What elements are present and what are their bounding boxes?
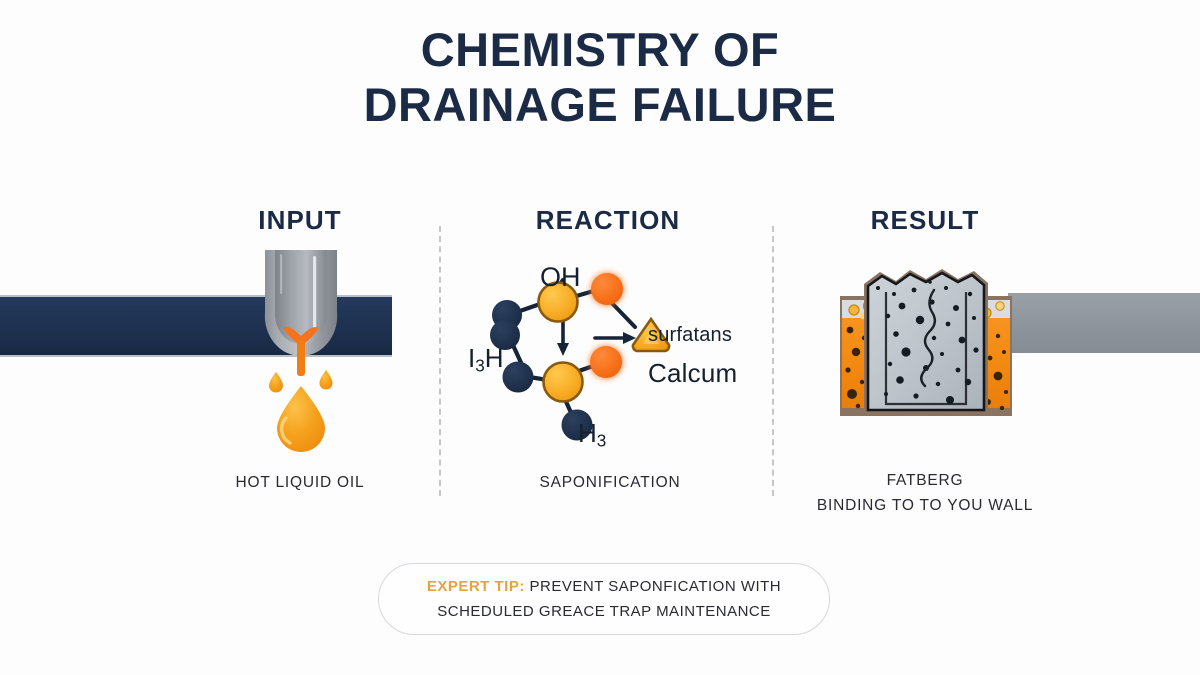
pipe-highlight	[313, 256, 316, 328]
molecule-label-hydroxyl: OH	[540, 262, 581, 293]
reaction-arrow-down	[557, 317, 569, 356]
page-title-line-2: DRAINAGE FAILURE	[0, 77, 1200, 132]
page-title-line-1: CHEMISTRY OF	[0, 22, 1200, 77]
molecule-label-surfactants: surfatans	[648, 324, 732, 347]
reaction-arrow-right	[595, 332, 636, 344]
fatberg-cross-section-icon	[830, 258, 1022, 448]
column-header-reaction: REACTION	[488, 205, 728, 236]
molecule-label-left-chain: I3H	[468, 343, 504, 376]
molecule-label-calcium: Calcum	[648, 358, 737, 389]
oil-droplet-small-right	[320, 370, 333, 390]
expert-tip-label: EXPERT TIP:	[427, 578, 525, 595]
expert-tip-text: EXPERT TIP: PREVENT SAPONFICATION WITH S…	[401, 574, 807, 624]
drain-pipe-bar-right	[1008, 293, 1200, 353]
caption-result: FATBERG BINDING TO TO YOU WALL	[805, 468, 1045, 518]
column-divider-2	[772, 226, 774, 496]
atom-glycerol-lower	[544, 363, 583, 402]
page-title: CHEMISTRY OF DRAINAGE FAILURE	[0, 22, 1200, 132]
oil-stream	[297, 340, 305, 376]
caption-reaction: SAPONIFICATION	[490, 470, 730, 495]
expert-tip-body-line-2: SCHEDULED GREACE TRAP MAINTENANCE	[437, 603, 771, 620]
pipe-highlight-secondary	[280, 254, 282, 294]
atom-carbon-lower-left	[503, 362, 534, 393]
expert-tip-body-line-1: PREVENT SAPONFICATION WITH	[525, 578, 781, 595]
pipe-inner-channel	[275, 250, 327, 344]
oil-droplet-small-left	[269, 372, 283, 393]
column-header-result: RESULT	[805, 205, 1045, 236]
caption-input: HOT LIQUID OIL	[178, 470, 422, 495]
caption-result-line-1: FATBERG	[805, 468, 1045, 493]
molecule-label-bottom: H3	[578, 418, 606, 451]
column-header-input: INPUT	[180, 205, 420, 236]
expert-tip-banner: EXPERT TIP: PREVENT SAPONFICATION WITH S…	[378, 563, 830, 635]
hot-oil-pipe-icon	[243, 250, 359, 455]
atom-fatty-acid-upper	[591, 273, 623, 305]
caption-result-line-2: BINDING TO TO YOU WALL	[805, 493, 1045, 518]
atom-fatty-acid-lower	[590, 346, 622, 378]
column-divider-1	[439, 226, 441, 496]
